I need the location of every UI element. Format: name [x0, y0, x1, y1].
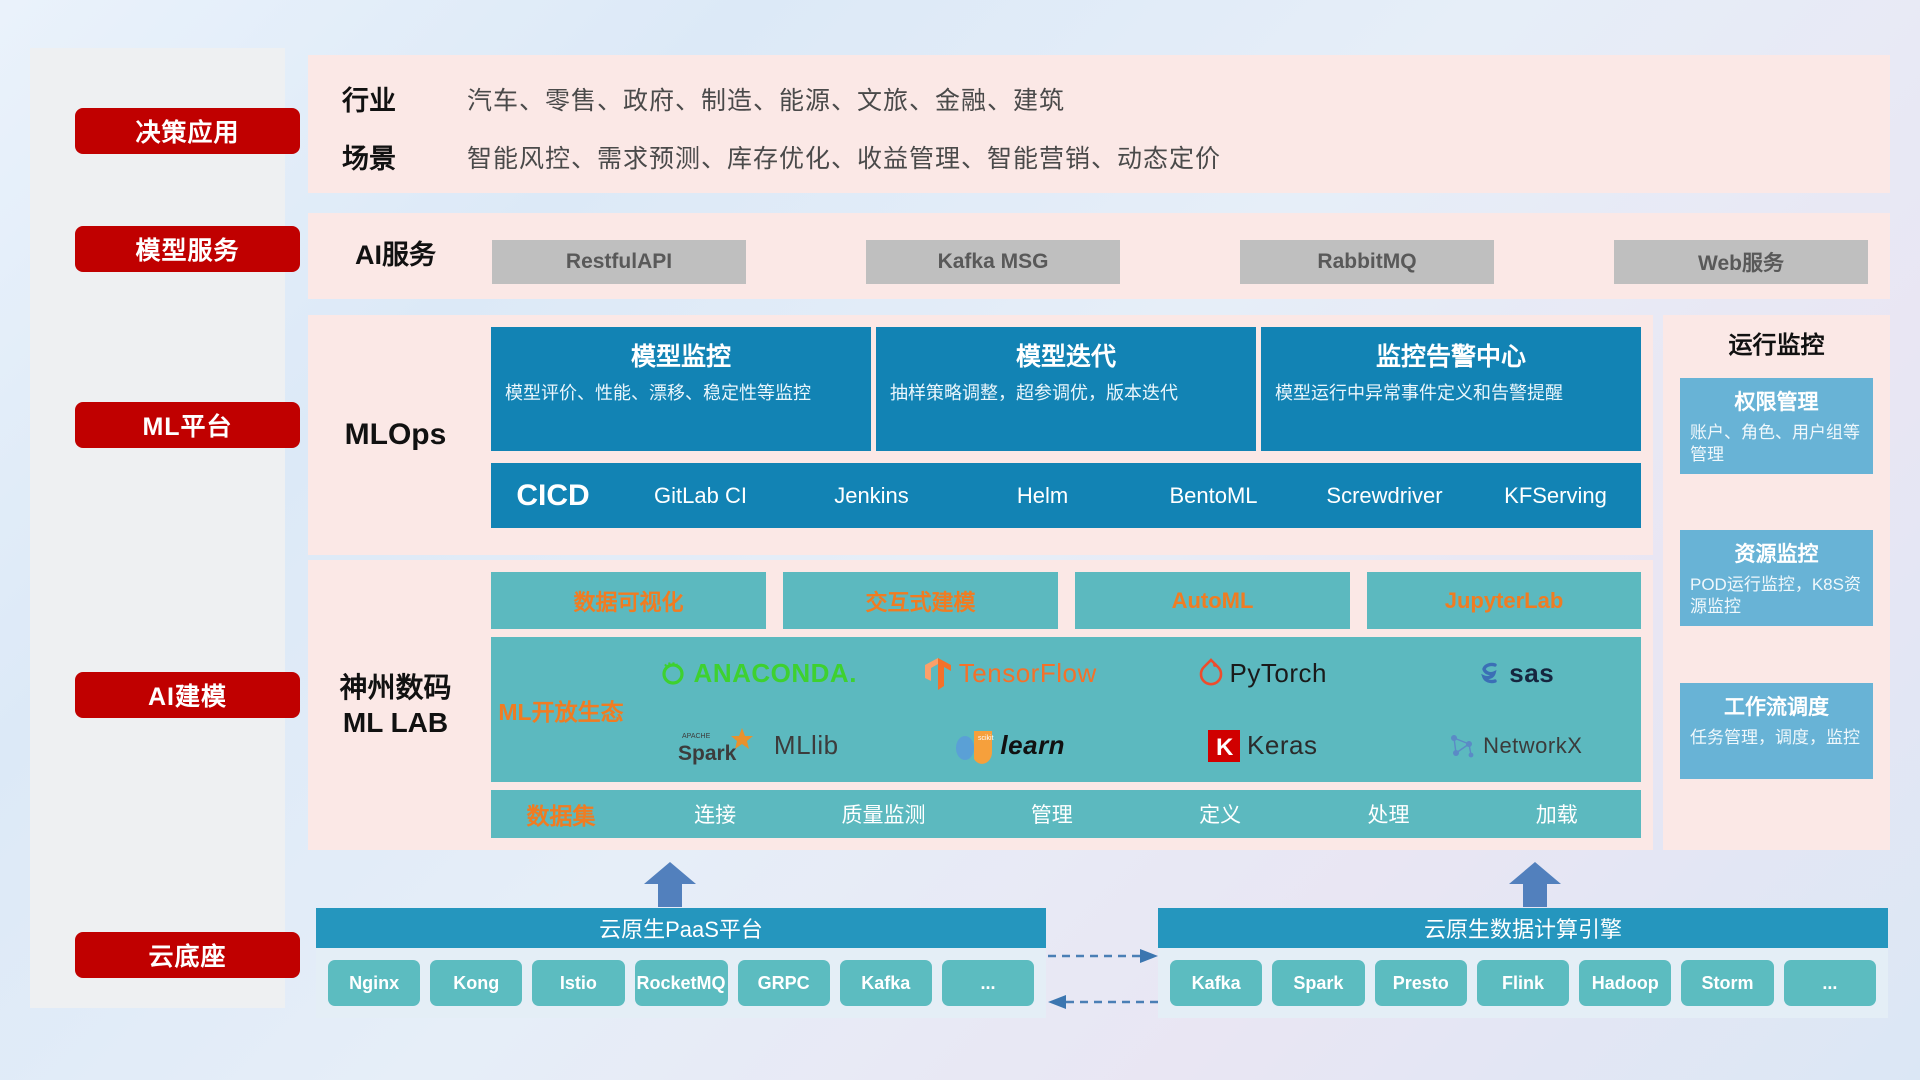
layer-chip-label: ML平台 [142, 407, 232, 443]
layer-chip-cloud-base[interactable]: 云底座 [75, 932, 300, 978]
service-chip-restfulapi[interactable]: RestfulAPI [492, 240, 746, 284]
layer-chip-ml-platform[interactable]: ML平台 [75, 402, 300, 448]
ml-ecosystem-panel: ML开放生态 ANACONDA. TensorFlow [491, 637, 1641, 782]
monitoring-card-workflow[interactable]: 工作流调度 任务管理，调度，监控 [1680, 683, 1873, 779]
mlops-card-title: 模型迭代 [890, 337, 1242, 373]
service-chip-rabbitmq[interactable]: RabbitMQ [1240, 240, 1494, 284]
layer-chip-label: AI建模 [148, 677, 227, 713]
compute-node-kafka[interactable]: Kafka [1170, 960, 1262, 1006]
mlops-card-alert-center[interactable]: 监控告警中心 模型运行中异常事件定义和告警提醒 [1261, 327, 1641, 451]
svg-text:Spark: Spark [678, 742, 737, 765]
mlops-card-desc: 抽样策略调整，超参调优，版本迭代 [890, 381, 1242, 405]
paas-header: 云原生PaaS平台 [316, 908, 1046, 948]
layer-chip-decision[interactable]: 决策应用 [75, 108, 300, 154]
sas-logo-text: sas [1509, 658, 1554, 689]
networkx-logo-text: NetworkX [1483, 733, 1582, 759]
pytorch-flame-icon [1198, 657, 1224, 689]
ecosystem-logo-grid: ANACONDA. TensorFlow PyTorch [631, 637, 1641, 782]
compute-node-spark[interactable]: Spark [1272, 960, 1364, 1006]
scenario-value: 智能风控、需求预测、库存优化、收益管理、智能营销、动态定价 [467, 139, 1221, 175]
monitoring-card-title: 资源监控 [1690, 538, 1863, 568]
svg-text:APACHE: APACHE [682, 733, 711, 740]
monitoring-card-desc: 账户、角色、用户组等管理 [1690, 422, 1863, 466]
compute-node-hadoop[interactable]: Hadoop [1579, 960, 1671, 1006]
dataset-item-connect[interactable]: 连接 [631, 799, 799, 829]
ml-lab-label: 神州数码 ML LAB [308, 560, 483, 850]
mlops-card-model-monitoring[interactable]: 模型监控 模型评价、性能、漂移、稳定性等监控 [491, 327, 871, 451]
tool-chip-jupyterlab[interactable]: JupyterLab [1367, 572, 1641, 629]
compute-node-storm[interactable]: Storm [1681, 960, 1773, 1006]
paas-node-kafka[interactable]: Kafka [840, 960, 932, 1006]
keras-logo-text: Keras [1247, 730, 1317, 761]
mlops-card-title: 模型监控 [505, 337, 857, 373]
anaconda-logo[interactable]: ANACONDA. [658, 658, 857, 689]
compute-node-more[interactable]: ... [1784, 960, 1876, 1006]
scikit-learn-mark-icon: scikit [954, 725, 994, 767]
industry-value: 汽车、零售、政府、制造、能源、文旅、金融、建筑 [467, 81, 1065, 117]
svg-text:K: K [1216, 734, 1234, 761]
cicd-item-gitlab-ci[interactable]: GitLab CI [615, 484, 786, 507]
keras-mark-icon: K [1207, 729, 1241, 763]
ml-lab-label-line2: ML LAB [343, 705, 448, 740]
service-chip-label: RestfulAPI [566, 250, 672, 274]
compute-up-arrow-icon [1505, 862, 1565, 907]
ai-service-label: AI服务 [308, 213, 483, 299]
tensorflow-logo[interactable]: TensorFlow [923, 656, 1097, 690]
mlops-card-model-iteration[interactable]: 模型迭代 抽样策略调整，超参调优，版本迭代 [876, 327, 1256, 451]
monitoring-card-title: 工作流调度 [1690, 691, 1863, 721]
mlops-label: MLOps [308, 315, 483, 555]
pytorch-logo-text: PyTorch [1230, 658, 1327, 689]
mlops-card-desc: 模型评价、性能、漂移、稳定性等监控 [505, 381, 857, 405]
layer-chip-label: 决策应用 [135, 113, 239, 149]
apache-spark-mark-icon: APACHE Spark [676, 726, 768, 766]
scenario-row: 场景 智能风控、需求预测、库存优化、收益管理、智能营销、动态定价 [308, 137, 1890, 176]
tool-chip-automl[interactable]: AutoML [1075, 572, 1350, 629]
dataset-item-quality[interactable]: 质量监测 [799, 799, 967, 829]
dataset-bar: 数据集 连接 质量监测 管理 定义 处理 加载 [491, 790, 1641, 838]
spark-mllib-logo[interactable]: APACHE Spark MLlib [676, 726, 839, 766]
mlops-card-desc: 模型运行中异常事件定义和告警提醒 [1275, 381, 1627, 405]
tensorflow-mark-icon [923, 656, 953, 690]
layer-chip-label: 模型服务 [135, 231, 239, 267]
tool-chip-data-visualization[interactable]: 数据可视化 [491, 572, 766, 629]
monitoring-card-desc: POD运行监控，K8S资源监控 [1690, 574, 1863, 618]
monitoring-card-resource[interactable]: 资源监控 POD运行监控，K8S资源监控 [1680, 530, 1873, 626]
cicd-item-bentoml[interactable]: BentoML [1128, 484, 1299, 507]
spark-mllib-logo-text: MLlib [774, 730, 839, 761]
cloud-bidirectional-connector-icon [1046, 940, 1160, 1020]
layer-chip-ai-modeling[interactable]: AI建模 [75, 672, 300, 718]
ml-lab-label-line1: 神州数码 [339, 670, 451, 705]
industry-key: 行业 [308, 79, 467, 118]
architecture-diagram: 决策应用 模型服务 ML平台 AI建模 云底座 行业 汽车、零售、政府、制造、能… [0, 0, 1920, 1080]
tool-chip-label: 交互式建模 [865, 585, 975, 617]
tool-chip-label: JupyterLab [1445, 588, 1564, 614]
networkx-logo[interactable]: NetworkX [1447, 731, 1582, 761]
cicd-item-jenkins[interactable]: Jenkins [786, 484, 957, 507]
tool-chip-label: AutoML [1172, 588, 1254, 614]
paas-node-kong[interactable]: Kong [430, 960, 522, 1006]
compute-header: 云原生数据计算引擎 [1158, 908, 1888, 948]
tool-chip-label: 数据可视化 [573, 585, 683, 617]
dataset-item-define[interactable]: 定义 [1136, 799, 1304, 829]
cicd-item-screwdriver[interactable]: Screwdriver [1299, 484, 1470, 507]
paas-node-row: Nginx Kong Istio RocketMQ GRPC Kafka ... [316, 948, 1046, 1018]
monitoring-card-desc: 任务管理，调度，监控 [1690, 727, 1863, 749]
paas-node-more[interactable]: ... [942, 960, 1034, 1006]
applications-band: 行业 汽车、零售、政府、制造、能源、文旅、金融、建筑 场景 智能风控、需求预测、… [308, 55, 1890, 193]
layer-chip-label: 云底座 [148, 937, 226, 973]
sas-mark-icon [1475, 659, 1503, 687]
service-chip-label: RabbitMQ [1317, 250, 1416, 274]
ml-ecosystem-title: ML开放生态 [491, 693, 631, 727]
dataset-item-manage[interactable]: 管理 [968, 799, 1136, 829]
monitoring-card-title: 权限管理 [1690, 386, 1863, 416]
cicd-bar: CICD GitLab CI Jenkins Helm BentoML Scre… [491, 463, 1641, 528]
service-chip-web-service[interactable]: Web服务 [1614, 240, 1868, 284]
tool-chip-interactive-modeling[interactable]: 交互式建模 [783, 572, 1058, 629]
dataset-title: 数据集 [491, 797, 631, 831]
pytorch-logo[interactable]: PyTorch [1198, 657, 1327, 689]
cicd-item-helm[interactable]: Helm [957, 484, 1128, 507]
compute-node-row: Kafka Spark Presto Flink Hadoop Storm ..… [1158, 948, 1888, 1018]
service-chip-label: Kafka MSG [938, 250, 1049, 274]
anaconda-mark-icon [658, 658, 688, 688]
paas-node-nginx[interactable]: Nginx [328, 960, 420, 1006]
dataset-item-process[interactable]: 处理 [1304, 799, 1472, 829]
compute-header-label: 云原生数据计算引擎 [1424, 912, 1622, 944]
mlops-card-title: 监控告警中心 [1275, 337, 1627, 373]
svg-text:scikit: scikit [978, 735, 994, 742]
paas-node-rocketmq[interactable]: RocketMQ [635, 960, 728, 1006]
layer-chip-model-service[interactable]: 模型服务 [75, 226, 300, 272]
sas-logo[interactable]: sas [1475, 658, 1554, 689]
scikit-learn-logo[interactable]: scikit learn [954, 725, 1065, 767]
paas-up-arrow-icon [640, 862, 700, 907]
keras-logo[interactable]: K Keras [1207, 729, 1317, 763]
service-chip-label: Web服务 [1698, 247, 1784, 277]
cicd-title: CICD [491, 479, 615, 513]
service-chip-kafka-msg[interactable]: Kafka MSG [866, 240, 1120, 284]
paas-node-istio[interactable]: Istio [532, 960, 624, 1006]
industry-row: 行业 汽车、零售、政府、制造、能源、文旅、金融、建筑 [308, 79, 1890, 118]
anaconda-logo-text: ANACONDA. [694, 658, 857, 689]
monitoring-card-permission[interactable]: 权限管理 账户、角色、用户组等管理 [1680, 378, 1873, 474]
layer-rail: 决策应用 模型服务 ML平台 AI建模 云底座 [30, 48, 285, 1008]
monitoring-title: 运行监控 [1663, 325, 1890, 360]
tensorflow-logo-text: TensorFlow [959, 658, 1097, 689]
cicd-item-kfserving[interactable]: KFServing [1470, 484, 1641, 507]
scikit-learn-logo-text: learn [1000, 730, 1065, 761]
compute-node-flink[interactable]: Flink [1477, 960, 1569, 1006]
compute-node-presto[interactable]: Presto [1375, 960, 1467, 1006]
scenario-key: 场景 [308, 137, 467, 176]
paas-node-grpc[interactable]: GRPC [738, 960, 830, 1006]
paas-header-label: 云原生PaaS平台 [599, 912, 763, 944]
dataset-item-load[interactable]: 加载 [1473, 799, 1641, 829]
networkx-graph-icon [1447, 731, 1477, 761]
